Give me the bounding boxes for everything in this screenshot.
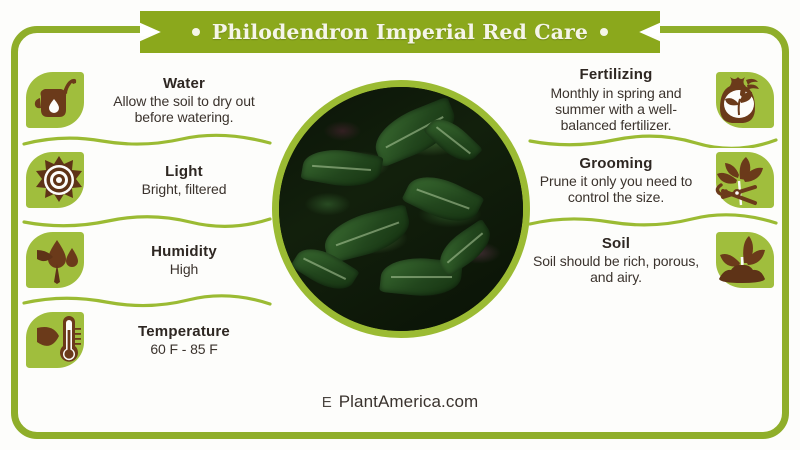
- care-text-humidity: Humidity High: [96, 243, 272, 278]
- care-text-soil: Soil Soil should be rich, porous, and ai…: [528, 235, 704, 286]
- pruning-shears-icon: [704, 146, 778, 214]
- care-text-fertilizing: Fertilizing Monthly in spring and summer…: [528, 66, 704, 133]
- footer: E PlantAmerica.com: [0, 392, 800, 412]
- care-text-temperature: Temperature 60 F - 85 F: [96, 323, 272, 358]
- care-desc: High: [98, 261, 270, 277]
- seedling-soil-glyph: [713, 233, 769, 287]
- thermometer-icon: [22, 306, 96, 374]
- care-item-water: Water Allow the soil to dry out before w…: [22, 66, 272, 134]
- care-desc: 60 F - 85 F: [98, 341, 270, 357]
- care-text-grooming: Grooming Prune it only you need to contr…: [528, 155, 704, 206]
- plantamerica-logo-icon: E: [322, 394, 332, 411]
- shears-leaves-glyph: [713, 153, 769, 207]
- care-title: Fertilizing: [530, 66, 702, 83]
- infographic-root: Philodendron Imperial Red Care: [0, 0, 800, 450]
- sun-icon: [22, 146, 96, 214]
- seedling-soil-icon: [704, 226, 778, 294]
- droplets-glyph: [33, 236, 85, 284]
- care-text-light: Light Bright, filtered: [96, 163, 272, 198]
- dot-bullet-left-icon: [192, 28, 200, 36]
- care-desc: Monthly in spring and summer with a well…: [530, 85, 702, 134]
- care-title: Light: [98, 163, 270, 180]
- watering-can-icon: [22, 66, 96, 134]
- footer-website: PlantAmerica.com: [339, 392, 479, 412]
- care-title: Soil: [530, 235, 702, 252]
- watering-can-glyph: [33, 76, 85, 124]
- thermometer-glyph: [33, 314, 85, 366]
- page-title: Philodendron Imperial Red Care: [212, 20, 588, 44]
- left-care-column: Water Allow the soil to dry out before w…: [22, 66, 272, 374]
- plant-photo-circle: [272, 80, 530, 338]
- care-item-humidity: Humidity High: [22, 226, 272, 294]
- plant-photo: [279, 87, 523, 331]
- fertilizer-sack-icon: [704, 66, 778, 134]
- care-item-temperature: Temperature 60 F - 85 F: [22, 306, 272, 374]
- fertilizer-sack-glyph: [714, 73, 768, 127]
- care-title: Water: [98, 75, 270, 92]
- care-desc: Soil should be rich, porous, and airy.: [530, 253, 702, 285]
- care-desc: Allow the soil to dry out before waterin…: [98, 93, 270, 125]
- right-care-column: Fertilizing Monthly in spring and summer…: [528, 66, 778, 294]
- care-item-fertilizing: Fertilizing Monthly in spring and summer…: [528, 66, 778, 134]
- sun-glyph: [34, 155, 84, 205]
- care-title: Grooming: [530, 155, 702, 172]
- title-banner: Philodendron Imperial Red Care: [140, 11, 660, 53]
- water-droplets-icon: [22, 226, 96, 294]
- dot-bullet-right-icon: [600, 28, 608, 36]
- care-item-soil: Soil Soil should be rich, porous, and ai…: [528, 226, 778, 294]
- care-desc: Bright, filtered: [98, 181, 270, 197]
- care-text-water: Water Allow the soil to dry out before w…: [96, 75, 272, 126]
- care-item-grooming: Grooming Prune it only you need to contr…: [528, 146, 778, 214]
- care-title: Temperature: [98, 323, 270, 340]
- care-title: Humidity: [98, 243, 270, 260]
- care-item-light: Light Bright, filtered: [22, 146, 272, 214]
- care-desc: Prune it only you need to control the si…: [530, 173, 702, 205]
